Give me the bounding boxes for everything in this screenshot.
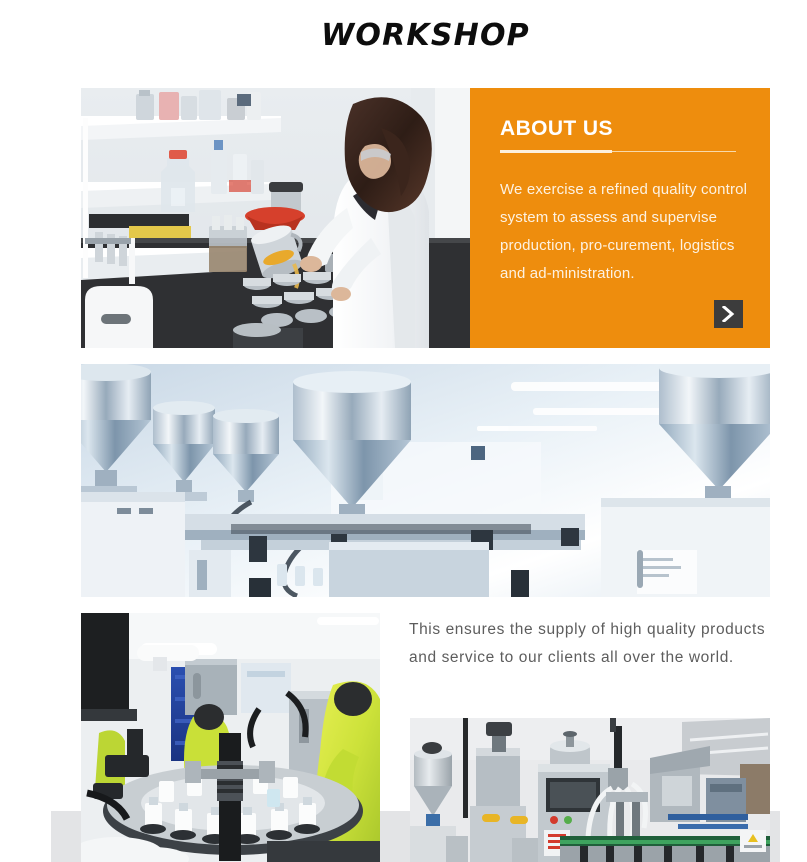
next-slide-button[interactable]	[714, 300, 743, 328]
about-us-body: We exercise a refined quality control sy…	[500, 176, 748, 288]
divider-weak-segment	[612, 151, 736, 152]
heading-divider	[500, 150, 736, 153]
chevron-right-icon	[722, 306, 735, 322]
supply-paragraph: This ensures the supply of high quality …	[409, 616, 779, 672]
lab-technician-photo	[81, 88, 470, 348]
about-us-heading: ABOUT US	[500, 116, 613, 142]
page-title: WORKSHOP	[0, 18, 807, 54]
filling-hoppers-photo	[81, 364, 770, 597]
divider-strong-segment	[500, 150, 612, 153]
packaging-line-photo	[410, 718, 770, 862]
capping-machine-photo	[81, 613, 380, 862]
